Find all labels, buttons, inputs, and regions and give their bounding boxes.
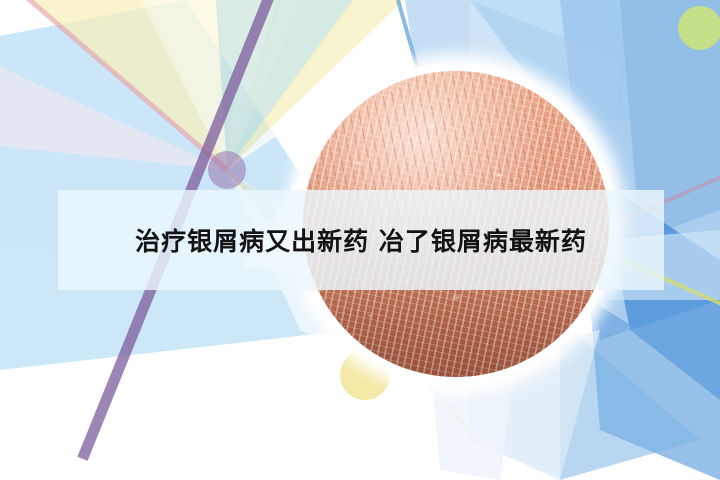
background-dot-green — [678, 6, 720, 50]
page-title: 治疗银屑病又出新药 冶了银屑病最新药 — [58, 190, 664, 290]
poster-canvas: 治疗银屑病又出新药 冶了银屑病最新药 — [0, 0, 720, 480]
